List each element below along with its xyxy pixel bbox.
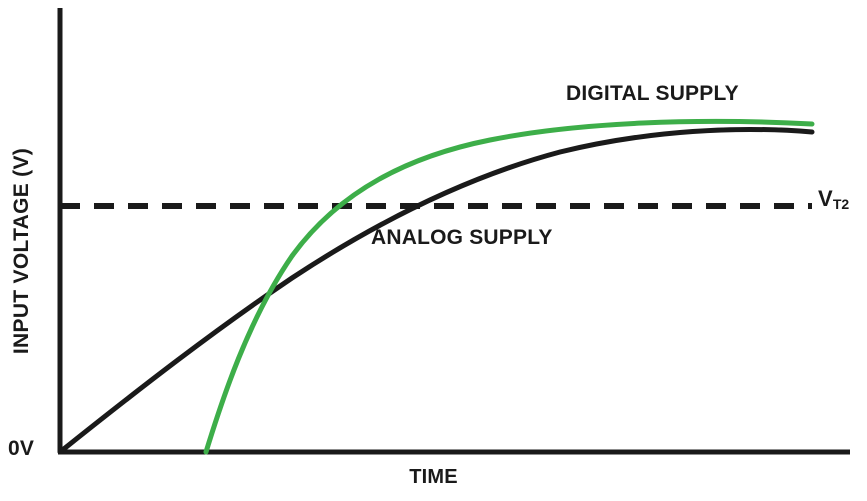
vt2-main-text: V	[818, 186, 833, 211]
digital-supply-curve	[206, 121, 812, 452]
analog-supply-label: ANALOG SUPPLY	[371, 226, 553, 250]
chart-canvas: INPUT VOLTAGE (V) TIME 0V DIGITAL SUPPLY…	[0, 0, 867, 501]
analog-supply-curve	[60, 129, 812, 452]
vt2-subscript-text: T2	[833, 196, 849, 212]
y-axis-title-text: INPUT VOLTAGE (V)	[10, 147, 34, 353]
chart-plot-area	[0, 0, 867, 501]
x-axis-title: TIME	[0, 466, 867, 489]
y-axis-title: INPUT VOLTAGE (V)	[0, 0, 44, 501]
zero-volt-label: 0V	[8, 437, 34, 461]
digital-supply-label: DIGITAL SUPPLY	[566, 82, 739, 106]
vt2-threshold-label: VT2	[818, 186, 849, 212]
